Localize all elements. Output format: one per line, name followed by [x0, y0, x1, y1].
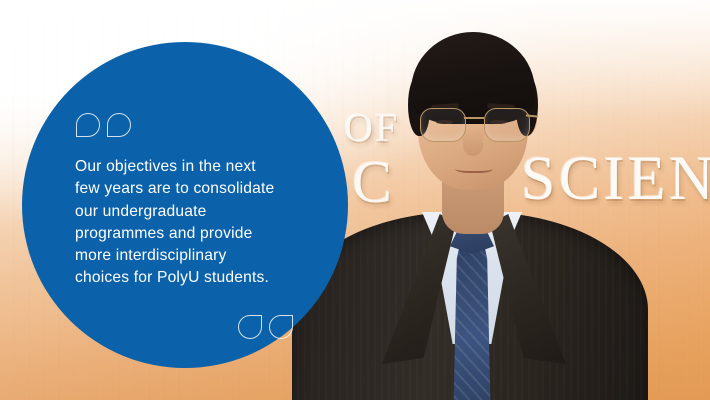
open-quote-glyph-1 [76, 113, 100, 137]
quote-line: choices for PolyU students. [75, 267, 311, 289]
open-quote-glyph-2 [107, 113, 131, 137]
close-quote-glyph-2 [269, 315, 293, 339]
portrait-photo [300, 0, 640, 400]
nose [463, 128, 483, 156]
quote-banner: OF C SCIEN [0, 0, 710, 400]
quote-line: few years are to consolidate [75, 178, 311, 200]
quote-line: programmes and provide [75, 223, 311, 245]
eyeglass-lens-left [420, 108, 466, 142]
eyeglass-bridge [464, 117, 484, 119]
close-quote-glyph-1 [238, 315, 262, 339]
close-quote-icon [238, 315, 293, 339]
mouth [455, 163, 493, 173]
eyeglass-lens-right [484, 108, 530, 142]
quote-line: more interdisciplinary [75, 245, 311, 267]
quote-line: Our objectives in the next [75, 156, 311, 178]
open-quote-icon [76, 113, 131, 137]
necktie [452, 232, 492, 400]
quote-line: our undergraduate [75, 201, 311, 223]
quote-text: Our objectives in the next few years are… [75, 156, 311, 290]
